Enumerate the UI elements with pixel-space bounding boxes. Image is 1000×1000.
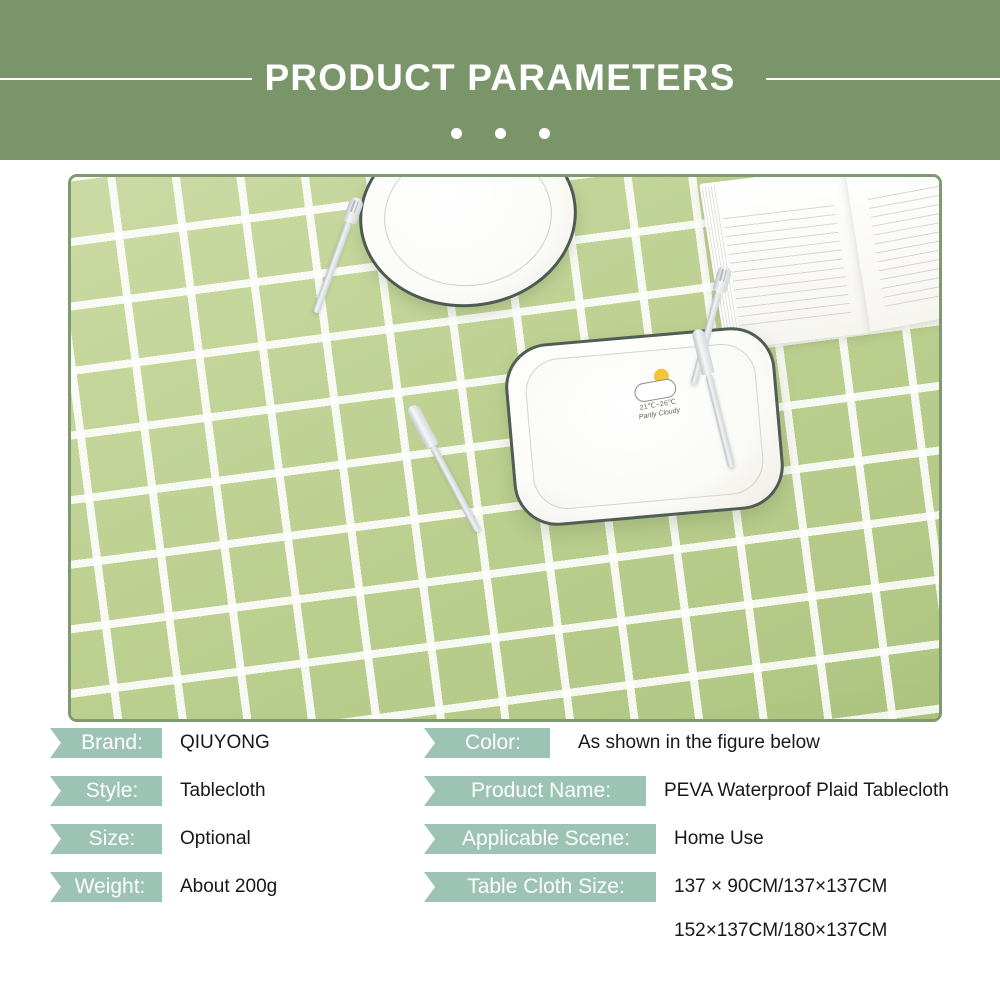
product-photo: 21℃~26℃ Partly Cloudy xyxy=(68,174,942,722)
parameter-row-product-name: Product Name: PEVA Waterproof Plaid Tabl… xyxy=(424,776,949,824)
parameter-value-style: Tablecloth xyxy=(180,776,266,806)
parameter-value-product-name: PEVA Waterproof Plaid Tablecloth xyxy=(664,776,949,806)
product-parameters: Brand: QIUYONG Style: Tablecloth Size: O… xyxy=(0,728,1000,1000)
parameter-label-weight: Weight: xyxy=(50,872,162,902)
header-dots xyxy=(0,128,1000,139)
parameters-right-column: Color: As shown in the figure below Prod… xyxy=(424,728,949,920)
parameter-row-style: Style: Tablecloth xyxy=(50,776,277,824)
parameter-value-applicable-scene: Home Use xyxy=(674,824,764,854)
plate-rim xyxy=(523,341,766,512)
table-cloth-size-line-2: 152×137CM/180×137CM xyxy=(674,916,887,960)
square-plate: 21℃~26℃ Partly Cloudy xyxy=(502,324,788,530)
parameter-label-size: Size: xyxy=(50,824,162,854)
parameter-value-weight: About 200g xyxy=(180,872,277,902)
parameter-value-table-cloth-size: 137 × 90CM/137×137CM 152×137CM/180×137CM xyxy=(674,872,887,960)
parameter-row-color: Color: As shown in the figure below xyxy=(424,728,949,776)
parameter-label-brand: Brand: xyxy=(50,728,162,758)
parameter-label-product-name: Product Name: xyxy=(424,776,646,806)
parameter-row-applicable-scene: Applicable Scene: Home Use xyxy=(424,824,949,872)
parameter-label-color: Color: xyxy=(424,728,550,758)
book-text-lines xyxy=(722,202,851,326)
table-cloth-size-line-1: 137 × 90CM/137×137CM xyxy=(674,872,887,916)
parameter-value-color: As shown in the figure below xyxy=(578,728,820,758)
dot-icon xyxy=(451,128,462,139)
parameter-row-size: Size: Optional xyxy=(50,824,277,872)
dot-icon xyxy=(539,128,550,139)
parameter-label-applicable-scene: Applicable Scene: xyxy=(424,824,656,854)
book-text-lines xyxy=(867,177,939,307)
dot-icon xyxy=(495,128,506,139)
parameter-row-weight: Weight: About 200g xyxy=(50,872,277,920)
page-title: PRODUCT PARAMETERS xyxy=(0,50,1000,106)
parameter-value-brand: QIUYONG xyxy=(180,728,270,758)
page-header: PRODUCT PARAMETERS xyxy=(0,0,1000,160)
parameters-left-column: Brand: QIUYONG Style: Tablecloth Size: O… xyxy=(50,728,277,920)
product-photo-scene: 21℃~26℃ Partly Cloudy xyxy=(71,177,939,719)
parameter-label-style: Style: xyxy=(50,776,162,806)
parameter-row-brand: Brand: QIUYONG xyxy=(50,728,277,776)
plate-rim xyxy=(377,177,559,294)
parameter-value-size: Optional xyxy=(180,824,251,854)
book-page-left xyxy=(699,177,870,350)
parameter-label-table-cloth-size: Table Cloth Size: xyxy=(424,872,656,902)
parameter-row-table-cloth-size: Table Cloth Size: 137 × 90CM/137×137CM 1… xyxy=(424,872,949,920)
